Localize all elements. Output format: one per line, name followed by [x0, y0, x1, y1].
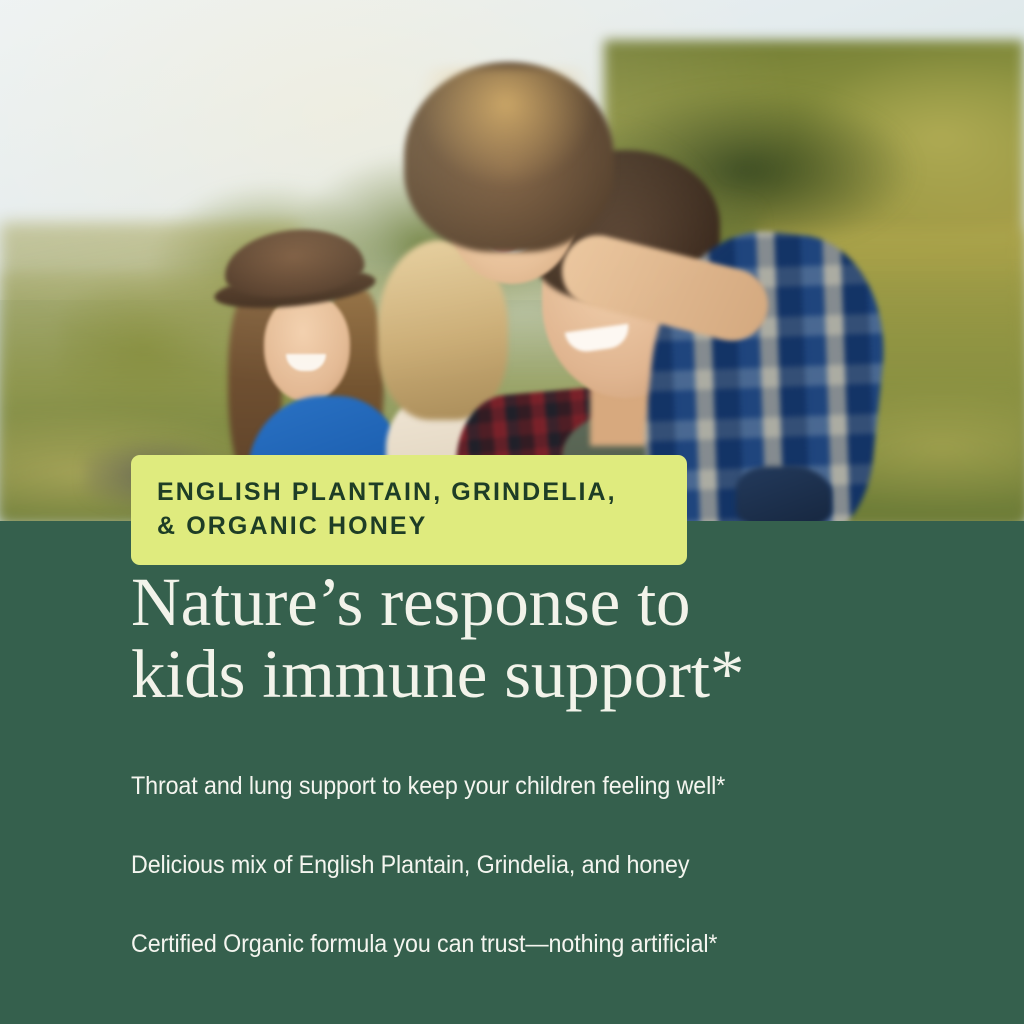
child-on-shoulders [380, 62, 850, 482]
headline-line-1: Nature’s response to [131, 566, 991, 638]
child-shoe [736, 466, 832, 522]
headline: Nature’s response to kids immune support… [131, 566, 991, 711]
ingredients-badge-line-1: ENGLISH PLANTAIN, GRINDELIA, [157, 475, 661, 509]
ingredients-badge: ENGLISH PLANTAIN, GRINDELIA, & ORGANIC H… [131, 455, 687, 565]
headline-line-2: kids immune support* [131, 638, 991, 710]
woman-face [264, 294, 350, 402]
benefit-item-1: Throat and lung support to keep your chi… [131, 772, 949, 801]
ingredients-badge-line-2: & ORGANIC HONEY [157, 509, 661, 543]
benefit-list: Throat and lung support to keep your chi… [131, 772, 1011, 1009]
product-marketing-card: ENGLISH PLANTAIN, GRINDELIA, & ORGANIC H… [0, 0, 1024, 1024]
hero-photo [0, 0, 1024, 522]
benefit-item-2: Delicious mix of English Plantain, Grind… [131, 851, 949, 880]
child-hair-sunlight [416, 68, 596, 188]
benefit-item-3: Certified Organic formula you can trust—… [131, 930, 949, 959]
